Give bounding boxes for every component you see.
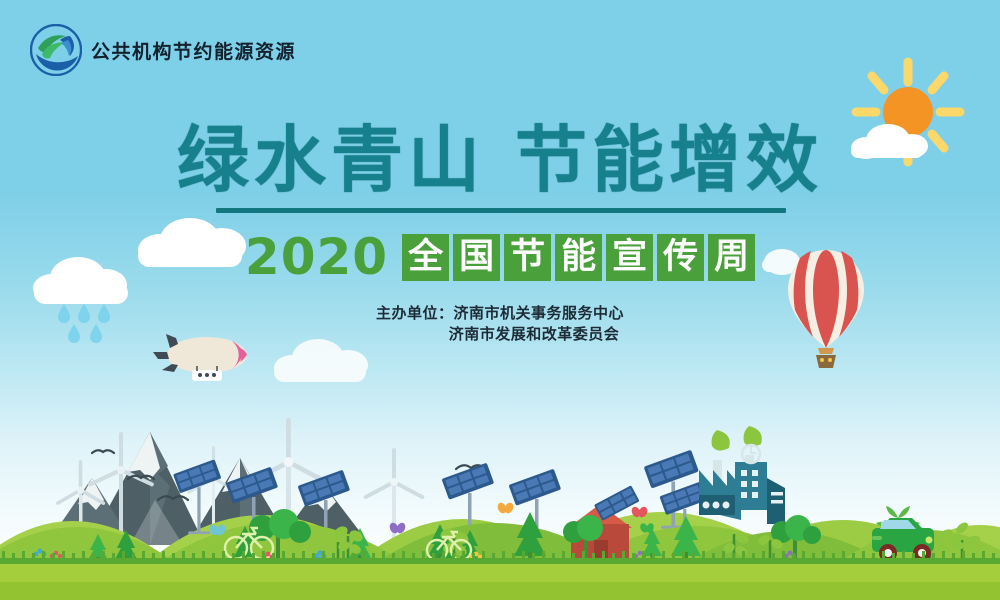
subtitle-row: 2020 全 国 节 能 宣 传 周 (0, 232, 1000, 282)
campaign-char: 节 (504, 234, 551, 281)
leaf-icon (744, 426, 762, 447)
eco-factory-icon (699, 426, 785, 524)
ground-band-light (0, 564, 1000, 582)
ground-band-mid (0, 582, 1000, 600)
energy-saving-week-poster: 公共机构节约能源资源 绿水青山 节能增效 2020 全 国 节 能 宣 传 周 … (0, 0, 1000, 600)
logo-text: 公共机构节约能源资源 (91, 37, 296, 64)
campaign-char: 宣 (606, 234, 653, 281)
landscape-scene (0, 0, 1000, 600)
organizer-line-2: 济南市发展和改革委员会 (0, 324, 1000, 345)
title-underline (216, 208, 786, 213)
campaign-char: 全 (402, 234, 449, 281)
page-title: 绿水青山 节能增效 (0, 124, 1000, 196)
globe-leaf-logo-icon (30, 24, 82, 76)
leaf-icon (712, 430, 730, 451)
year-label: 2020 (245, 232, 388, 282)
campaign-char: 周 (708, 234, 755, 281)
logo-block: 公共机构节约能源资源 (30, 24, 296, 76)
campaign-char: 传 (657, 234, 704, 281)
campaign-char: 国 (453, 234, 500, 281)
campaign-char: 能 (555, 234, 602, 281)
campaign-name: 全 国 节 能 宣 传 周 (402, 234, 755, 281)
organizer-line-1: 主办单位：济南市机关事务服务中心 (0, 303, 1000, 324)
organizer-block: 主办单位：济南市机关事务服务中心 济南市发展和改革委员会 (0, 303, 1000, 345)
